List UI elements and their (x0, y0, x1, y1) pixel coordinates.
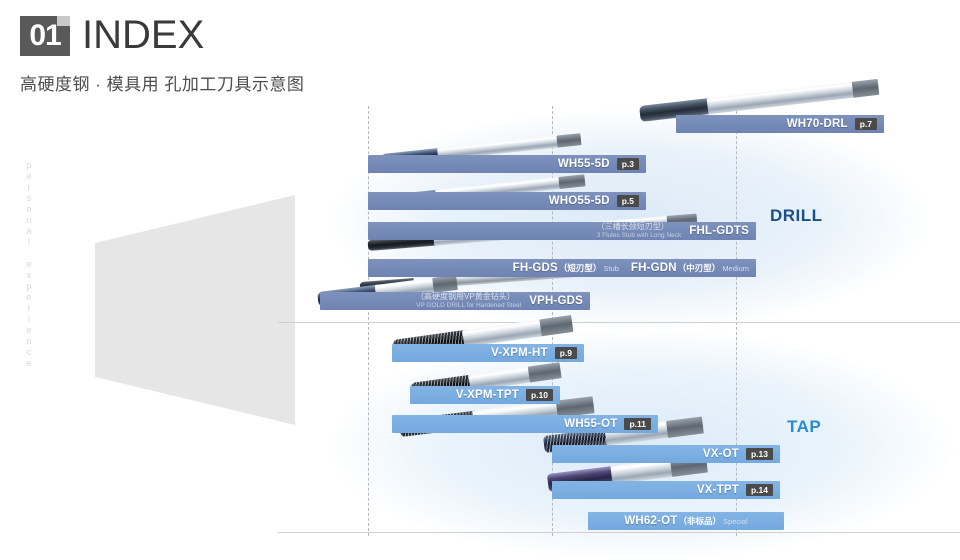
tool-code: WH62-OT (624, 515, 677, 527)
tool-bar[interactable]: WH55-5D p.3 (368, 155, 646, 173)
tool-bar[interactable]: WH70-DRL p.7 (676, 115, 884, 133)
tool-row-vph-gds: （高硬度钢用VP黄金钻头） VP GOLD DRILL for Hardened… (320, 292, 590, 310)
tool-subtitle-cn: （三槽长颈短刃型） (597, 222, 682, 231)
tool-code: FHL-GDTS (689, 225, 749, 237)
tool-row-wh62-ot: WH62-OT （非标品） Special (588, 512, 784, 530)
tool-row-who55-5d: WHO55-5D p.5 (368, 192, 646, 210)
tool-row-v-xpm-ht: V-XPM-HT p.9 (392, 344, 584, 362)
tool-bar[interactable]: V-XPM-HT p.9 (392, 344, 584, 362)
tool-row-wh70-drl: WH70-DRL p.7 (676, 115, 884, 133)
tool-subtitle: （三槽长颈短刃型） 3 Flutes Stub with Long Neck (597, 222, 682, 240)
tool-code: VX-OT (703, 448, 739, 460)
tool-bar[interactable]: WH62-OT （非标品） Special (588, 512, 784, 530)
tool-row-vx-tpt: VX-TPT p.14 (552, 481, 780, 499)
tool-row-fhl-gdts: （三槽长颈短刃型） 3 Flutes Stub with Long Neck F… (368, 222, 756, 240)
tool-code-cn: （非标品） (679, 515, 722, 527)
page-subtitle: 高硬度钢 · 模具用 孔加工刀具示意图 (20, 70, 304, 95)
tool-row-vx-ot: VX-OT p.13 (552, 445, 780, 463)
page-badge[interactable]: p.7 (855, 118, 877, 130)
tool-code: V-XPM-TPT (456, 389, 519, 401)
tool-code: VPH-GDS (529, 295, 583, 307)
page-badge[interactable]: p.11 (624, 418, 651, 430)
tool-code: FH-GDS (513, 262, 558, 274)
page-badge[interactable]: p.5 (617, 195, 639, 207)
page-title: INDEX (82, 10, 204, 60)
tool-code: WH70-DRL (787, 118, 848, 130)
section-divider (278, 322, 960, 323)
section-caption-tap: TAP (787, 417, 821, 437)
page-badge[interactable]: p.3 (617, 158, 639, 170)
page-badge[interactable]: p.9 (555, 347, 577, 359)
tool-bar[interactable]: VX-TPT p.14 (552, 481, 780, 499)
tool-code-2: FH-GDN (631, 262, 677, 274)
funnel-shape (95, 195, 295, 425)
tool-bar[interactable]: （三槽长颈短刃型） 3 Flutes Stub with Long Neck F… (368, 222, 756, 240)
tool-code-2-cn: （中刃型） (678, 262, 721, 274)
tool-code-en: Special (723, 517, 748, 526)
page-badge[interactable]: p.14 (746, 484, 773, 496)
tool-row-wh55-5d: WH55-5D p.3 (368, 155, 646, 173)
tool-bar[interactable]: WHO55-5D p.5 (368, 192, 646, 210)
tool-code: V-XPM-HT (491, 347, 548, 359)
guide-line-3 (736, 106, 737, 536)
section-caption-drill: DRILL (770, 206, 823, 226)
tool-subtitle-en: VP GOLD DRILL for Hardened Steel (416, 301, 521, 310)
tool-subtitle: （高硬度钢用VP黄金钻头） VP GOLD DRILL for Hardened… (416, 292, 521, 310)
tool-row-v-xpm-tpt: V-XPM-TPT p.10 (410, 386, 560, 404)
tool-code-en: Stub (603, 264, 618, 273)
diagram-stage: DRILL TAP (0, 100, 960, 540)
tool-bar[interactable]: VX-OT p.13 (552, 445, 780, 463)
tool-code: WH55-5D (558, 158, 610, 170)
page-badge[interactable]: p.13 (746, 448, 773, 460)
tool-row-wh55-ot: WH55-OT p.11 (392, 415, 658, 433)
tool-subtitle-en: 3 Flutes Stub with Long Neck (597, 231, 682, 240)
tool-code-2-en: Medium (722, 264, 749, 273)
tool-row-fh-gds: FH-GDS （短刃型） Stub FH-GDN （中刃型） Medium (368, 259, 756, 277)
tool-code: WHO55-5D (549, 195, 610, 207)
tool-code-cn: （短刃型） (559, 262, 602, 274)
badge-fold-corner (57, 16, 70, 26)
page-header: 01 INDEX 高硬度钢 · 模具用 孔加工刀具示意图 (0, 0, 960, 100)
tool-bar[interactable]: WH55-OT p.11 (392, 415, 658, 433)
tool-code: VX-TPT (697, 484, 739, 496)
tool-bar[interactable]: V-XPM-TPT p.10 (410, 386, 560, 404)
tool-bar[interactable]: FH-GDS （短刃型） Stub FH-GDN （中刃型） Medium (368, 259, 756, 277)
tool-bar[interactable]: （高硬度钢用VP黄金钻头） VP GOLD DRILL for Hardened… (320, 292, 590, 310)
bottom-rule (278, 532, 960, 533)
tool-subtitle-cn: （高硬度钢用VP黄金钻头） (416, 292, 521, 301)
page-badge[interactable]: p.10 (526, 389, 553, 401)
tool-code: WH55-OT (564, 418, 617, 430)
